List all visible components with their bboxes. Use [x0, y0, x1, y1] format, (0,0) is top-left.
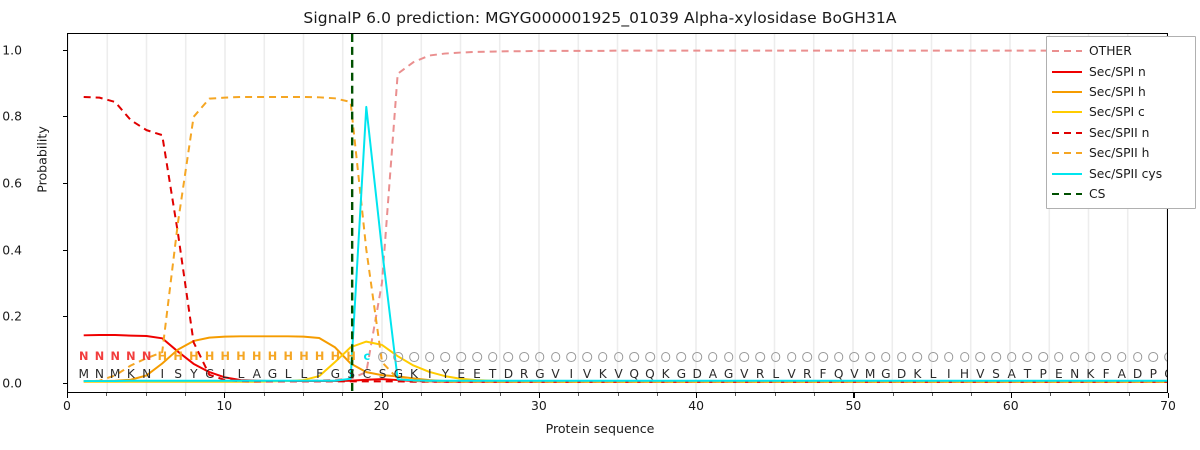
- region-marker-other: [661, 352, 671, 362]
- x-tick-mark: [382, 393, 383, 398]
- legend-item[interactable]: OTHER: [1052, 41, 1190, 61]
- x-tick-label: 50: [823, 398, 883, 413]
- sequence-residue: N: [142, 367, 151, 381]
- y-tick-label: 0.6: [0, 176, 22, 191]
- region-label: H: [221, 350, 230, 363]
- legend-label: CS: [1089, 187, 1105, 201]
- x-tick-mark: [539, 393, 540, 398]
- sequence-residue: Q: [629, 367, 639, 381]
- region-marker-other: [960, 352, 970, 362]
- legend-label: OTHER: [1089, 44, 1132, 58]
- plot-inner: NMNNNMNKNNHIHSHYHCHLHLHAHGHLHLHFHGHScCSG…: [68, 34, 1167, 392]
- sequence-residue: K: [127, 367, 135, 381]
- sequence-residue: Y: [442, 367, 449, 381]
- sequence-residue: S: [379, 367, 387, 381]
- sequence-residue: T: [1024, 367, 1031, 381]
- sequence-residue: L: [930, 367, 937, 381]
- region-marker-other: [441, 352, 451, 362]
- x-minor-tick-mark: [657, 393, 658, 396]
- region-label: N: [142, 350, 151, 363]
- region-marker-other: [850, 352, 860, 362]
- x-tick-mark: [1011, 393, 1012, 398]
- region-label: N: [126, 350, 135, 363]
- sequence-residue: T: [489, 367, 496, 381]
- y-axis-label: Probability: [35, 80, 50, 240]
- plot-area: NMNNNMNKNNHIHSHYHCHLHLHAHGHLHLHFHGHScCSG…: [67, 33, 1168, 393]
- sequence-residue: I: [161, 367, 165, 381]
- region-marker-other: [1007, 352, 1017, 362]
- y-tick-label: 0.0: [0, 376, 22, 391]
- legend-item[interactable]: Sec/SPII cys: [1052, 163, 1190, 183]
- region-marker-other: [1054, 352, 1064, 362]
- sequence-residue: E: [473, 367, 481, 381]
- region-marker-other: [740, 352, 750, 362]
- sequence-residue: R: [803, 367, 811, 381]
- legend-label: Sec/SPII cys: [1089, 167, 1162, 181]
- y-tick-label: 0.4: [0, 242, 22, 257]
- sequence-residue: R: [756, 367, 764, 381]
- x-minor-tick-mark: [814, 393, 815, 396]
- region-marker-other: [708, 352, 718, 362]
- region-marker-other: [567, 352, 577, 362]
- sequence-residue: S: [992, 367, 1000, 381]
- x-axis-label: Protein sequence: [0, 421, 1200, 436]
- sequence-residue: I: [947, 367, 951, 381]
- y-tick-label: 1.0: [0, 42, 22, 57]
- region-label: N: [95, 350, 104, 363]
- region-marker-other: [834, 352, 844, 362]
- legend-label: Sec/SPI h: [1089, 85, 1146, 99]
- region-marker-other: [913, 352, 923, 362]
- region-marker-other: [582, 352, 592, 362]
- region-label: H: [346, 350, 355, 363]
- region-marker-other: [771, 352, 781, 362]
- x-tick-label: 0: [37, 398, 97, 413]
- region-label: H: [331, 350, 340, 363]
- sequence-residue: A: [1118, 367, 1126, 381]
- region-marker-other: [1023, 352, 1033, 362]
- sequence-residue: R: [520, 367, 528, 381]
- region-label: N: [110, 350, 119, 363]
- region-marker-other: [818, 352, 828, 362]
- sequence-residue: A: [1008, 367, 1016, 381]
- region-marker-other: [787, 352, 797, 362]
- region-marker-other: [535, 352, 545, 362]
- region-marker-other: [629, 352, 639, 362]
- legend-swatch-icon: [1052, 86, 1082, 98]
- y-tick-mark: [63, 316, 68, 317]
- x-tick-label: 70: [1138, 398, 1198, 413]
- sequence-residue: D: [1133, 367, 1142, 381]
- sequence-residue: Q: [645, 367, 655, 381]
- x-tick-label: 20: [352, 398, 412, 413]
- legend-label: Sec/SPI c: [1089, 105, 1145, 119]
- sequence-residue: V: [551, 367, 559, 381]
- x-minor-tick-mark: [971, 393, 972, 396]
- x-tick-label: 60: [981, 398, 1041, 413]
- sequence-residue: L: [301, 367, 308, 381]
- sequence-residue: V: [583, 367, 591, 381]
- region-marker-other: [472, 352, 482, 362]
- series-line-sec-spii-h: [84, 97, 1167, 382]
- region-label: H: [299, 350, 308, 363]
- region-label: H: [252, 350, 261, 363]
- sequence-residue: N: [95, 367, 104, 381]
- region-marker-other: [897, 352, 907, 362]
- region-marker-other: [1070, 352, 1080, 362]
- x-tick-label: 40: [666, 398, 726, 413]
- region-marker-other: [865, 352, 875, 362]
- sequence-residue: L: [238, 367, 245, 381]
- region-marker-other: [677, 352, 687, 362]
- x-minor-tick-mark: [735, 393, 736, 396]
- x-tick-mark: [67, 393, 68, 398]
- region-label: H: [236, 350, 245, 363]
- series-line-other: [84, 51, 1167, 382]
- sequence-residue: G: [724, 367, 733, 381]
- region-marker-other: [1038, 352, 1048, 362]
- region-marker-other: [519, 352, 529, 362]
- legend-label: Sec/SPI n: [1089, 65, 1146, 79]
- y-tick-mark: [63, 50, 68, 51]
- legend-item[interactable]: Sec/SPII h: [1052, 143, 1190, 163]
- legend-swatch-icon: [1052, 147, 1082, 159]
- signalp-prediction-figure: SignalP 6.0 prediction: MGYG000001925_01…: [0, 0, 1200, 450]
- x-minor-tick-mark: [775, 393, 776, 396]
- sequence-residue: P: [1039, 367, 1046, 381]
- region-marker-other: [394, 352, 404, 362]
- sequence-residue: M: [110, 367, 121, 381]
- region-marker-other: [504, 352, 514, 362]
- sequence-residue: K: [599, 367, 607, 381]
- legend-swatch-icon: [1052, 106, 1082, 118]
- sequence-residue: K: [1086, 367, 1094, 381]
- x-minor-tick-mark: [421, 393, 422, 396]
- sequence-residue: K: [410, 367, 418, 381]
- sequence-residue: K: [913, 367, 921, 381]
- sequence-residue: P: [1150, 367, 1157, 381]
- x-tick-mark: [853, 393, 854, 398]
- sequence-residue: F: [316, 367, 323, 381]
- legend-label: Sec/SPII h: [1089, 146, 1149, 160]
- sequence-residue: L: [285, 367, 292, 381]
- region-marker-other: [409, 352, 419, 362]
- sequence-residue: L: [222, 367, 229, 381]
- legend-item[interactable]: CS: [1052, 184, 1190, 204]
- x-minor-tick-mark: [1050, 393, 1051, 396]
- sequence-residue: D: [897, 367, 906, 381]
- region-marker-other: [1133, 352, 1143, 362]
- legend-item[interactable]: Sec/SPI c: [1052, 102, 1190, 122]
- x-minor-tick-mark: [460, 393, 461, 396]
- region-label: H: [189, 350, 198, 363]
- region-marker-other: [1148, 352, 1158, 362]
- sequence-residue: E: [1055, 367, 1063, 381]
- region-marker-other: [456, 352, 466, 362]
- sequence-residue: G: [268, 367, 277, 381]
- page-title: SignalP 6.0 prediction: MGYG000001925_01…: [0, 9, 1200, 27]
- sequence-residue: I: [570, 367, 574, 381]
- legend-swatch-icon: [1052, 66, 1082, 78]
- y-tick-mark: [63, 116, 68, 117]
- region-marker-other: [378, 352, 388, 362]
- region-marker-other: [488, 352, 498, 362]
- series-line-sec-spi-c: [84, 342, 1167, 382]
- sequence-residue: S: [174, 367, 182, 381]
- x-tick-mark: [224, 393, 225, 398]
- region-marker-other: [928, 352, 938, 362]
- region-label: H: [205, 350, 214, 363]
- region-marker-other: [944, 352, 954, 362]
- sequence-residue: I: [428, 367, 432, 381]
- legend-swatch-icon: [1052, 127, 1082, 139]
- x-minor-tick-mark: [618, 393, 619, 396]
- sequence-residue: C: [205, 367, 214, 381]
- sequence-residue: S: [347, 367, 355, 381]
- sequence-residue: Q: [834, 367, 844, 381]
- sequence-residue: Q: [1164, 367, 1167, 381]
- sequence-residue: A: [253, 367, 261, 381]
- legend-item[interactable]: Sec/SPII n: [1052, 123, 1190, 143]
- region-marker-other: [1101, 352, 1111, 362]
- region-marker-other: [598, 352, 608, 362]
- series-line-sec-spi-n: [84, 335, 1167, 382]
- x-minor-tick-mark: [578, 393, 579, 396]
- x-minor-tick-mark: [106, 393, 107, 396]
- region-label: H: [173, 350, 182, 363]
- region-label: H: [158, 350, 167, 363]
- legend-label: Sec/SPII n: [1089, 126, 1149, 140]
- sequence-residue: G: [394, 367, 403, 381]
- x-tick-label: 10: [194, 398, 254, 413]
- sequence-residue: V: [787, 367, 795, 381]
- region-marker-other: [802, 352, 812, 362]
- sequence-residue: K: [662, 367, 670, 381]
- sequence-residue: V: [614, 367, 622, 381]
- x-minor-tick-mark: [185, 393, 186, 396]
- sequence-residue: V: [740, 367, 748, 381]
- region-marker-other: [1117, 352, 1127, 362]
- region-marker-other: [724, 352, 734, 362]
- sequence-residue: G: [535, 367, 544, 381]
- x-minor-tick-mark: [932, 393, 933, 396]
- sequence-residue: G: [331, 367, 340, 381]
- x-minor-tick-mark: [303, 393, 304, 396]
- sequence-residue: D: [692, 367, 701, 381]
- sequence-residue: A: [709, 367, 717, 381]
- region-marker-other: [645, 352, 655, 362]
- region-marker-other: [975, 352, 985, 362]
- x-tick-label: 30: [509, 398, 569, 413]
- x-minor-tick-mark: [893, 393, 894, 396]
- legend-item[interactable]: Sec/SPI n: [1052, 61, 1190, 81]
- sequence-residue: D: [504, 367, 513, 381]
- sequence-residue: N: [1070, 367, 1079, 381]
- sequence-residue: G: [677, 367, 686, 381]
- region-marker-other: [614, 352, 624, 362]
- sequence-residue: M: [865, 367, 876, 381]
- legend-item[interactable]: Sec/SPI h: [1052, 82, 1190, 102]
- sequence-residue: Y: [190, 367, 197, 381]
- region-marker-other: [551, 352, 561, 362]
- y-tick-mark: [63, 383, 68, 384]
- sequence-residue: V: [976, 367, 984, 381]
- sequence-residue: L: [772, 367, 779, 381]
- series-line-sec-spi-h: [84, 336, 1167, 381]
- x-tick-mark: [1168, 393, 1169, 398]
- region-marker-other: [881, 352, 891, 362]
- x-minor-tick-mark: [1129, 393, 1130, 396]
- region-marker-other: [1164, 352, 1167, 362]
- sequence-residue: V: [850, 367, 858, 381]
- region-marker-other: [991, 352, 1001, 362]
- x-minor-tick-mark: [500, 393, 501, 396]
- sequence-residue: E: [457, 367, 465, 381]
- sequence-residue: G: [881, 367, 890, 381]
- region-marker-other: [692, 352, 702, 362]
- y-tick-label: 0.8: [0, 109, 22, 124]
- x-minor-tick-mark: [342, 393, 343, 396]
- x-minor-tick-mark: [146, 393, 147, 396]
- region-label: H: [283, 350, 292, 363]
- y-tick-mark: [63, 183, 68, 184]
- region-label: N: [79, 350, 88, 363]
- x-tick-mark: [696, 393, 697, 398]
- y-tick-label: 0.2: [0, 309, 22, 324]
- sequence-residue: F: [1103, 367, 1110, 381]
- series-line-sec-spii-n: [84, 97, 1167, 382]
- region-marker-other: [1086, 352, 1096, 362]
- legend-swatch-icon: [1052, 168, 1082, 180]
- region-marker-other: [425, 352, 435, 362]
- region-marker-other: [755, 352, 765, 362]
- region-label: c: [363, 350, 370, 363]
- sequence-residue: H: [960, 367, 969, 381]
- sequence-residue: C: [363, 367, 372, 381]
- y-tick-mark: [63, 250, 68, 251]
- sequence-residue: F: [819, 367, 826, 381]
- curve-layer: [68, 34, 1167, 392]
- x-minor-tick-mark: [264, 393, 265, 396]
- x-minor-tick-mark: [1089, 393, 1090, 396]
- sequence-residue: M: [78, 367, 89, 381]
- series-line-sec-spii-cys: [84, 107, 1167, 381]
- region-label: H: [315, 350, 324, 363]
- legend-swatch-icon: [1052, 188, 1082, 200]
- legend-swatch-icon: [1052, 45, 1082, 57]
- region-label: H: [268, 350, 277, 363]
- legend: OTHERSec/SPI nSec/SPI hSec/SPI cSec/SPII…: [1046, 36, 1196, 209]
